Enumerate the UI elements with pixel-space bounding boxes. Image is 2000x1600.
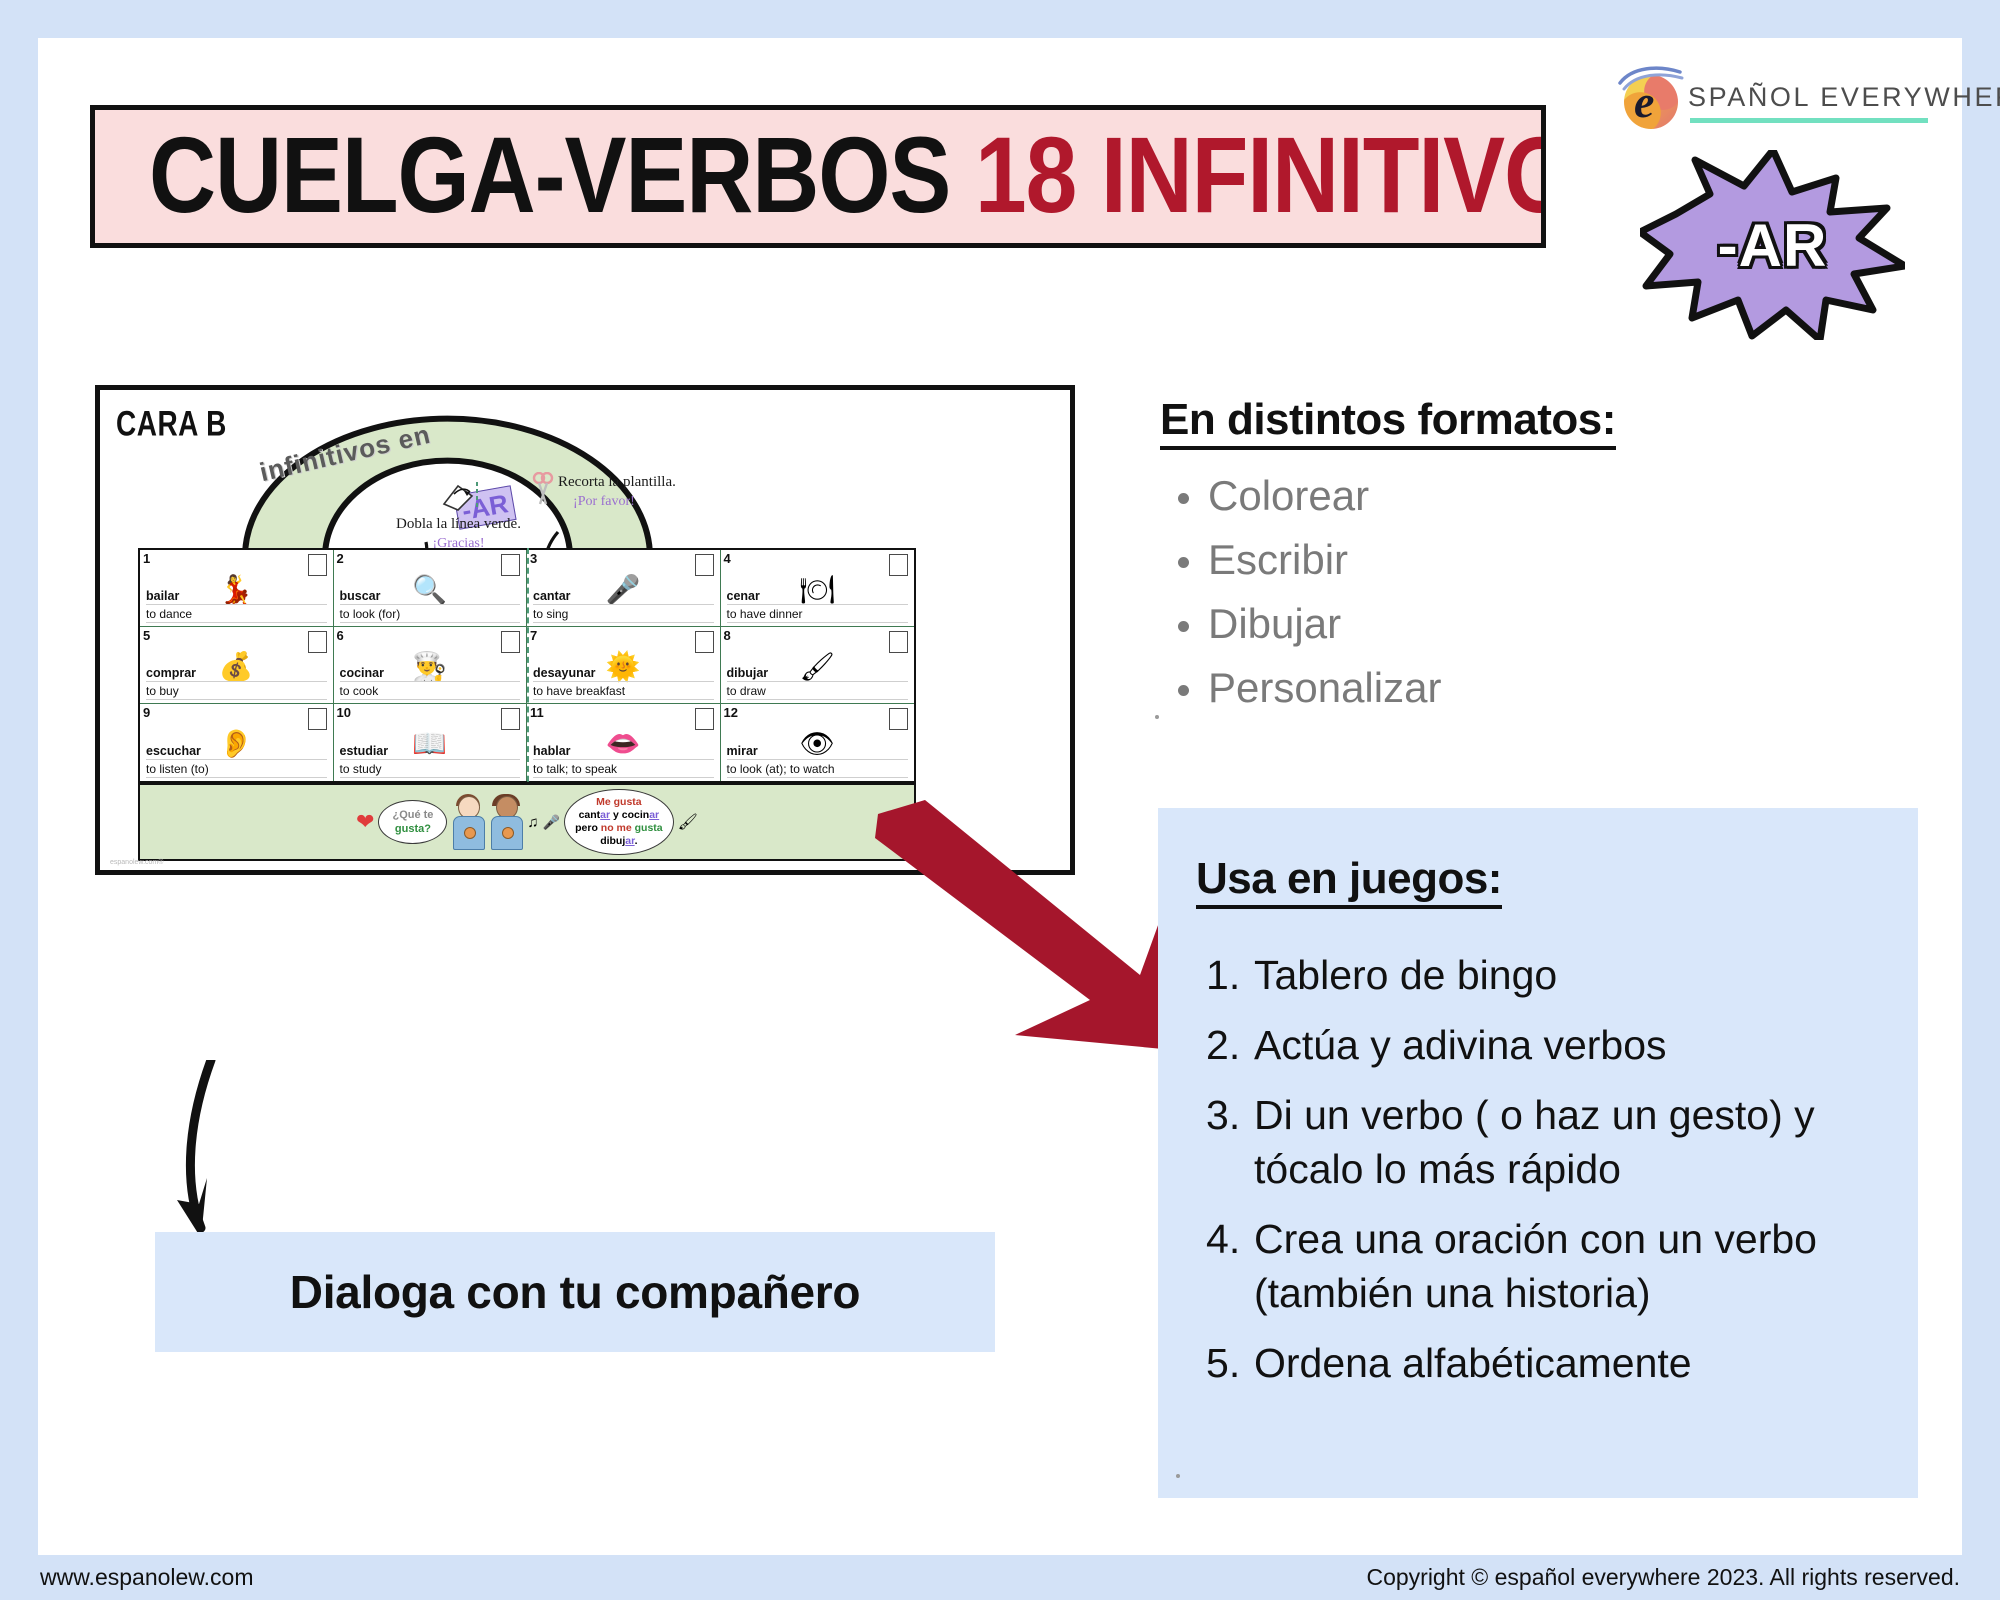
- card-number: 2: [337, 551, 344, 566]
- student-girl-avatar: [489, 796, 523, 848]
- formats-heading-colon: :: [1602, 395, 1616, 450]
- sheet-side-label: CARA B: [116, 404, 227, 444]
- card-number: 8: [724, 628, 731, 643]
- card-english: to dance: [146, 607, 327, 623]
- ar-starburst-badge: -AR: [1640, 150, 1905, 340]
- answer-line4-c: .: [635, 835, 638, 847]
- card-spanish: cocinar: [340, 666, 521, 682]
- card-number: 7: [530, 628, 537, 643]
- card-english: to cook: [340, 684, 521, 700]
- verb-card[interactable]: 9 👂 escuchar to listen (to): [140, 704, 334, 781]
- card-spanish: estudiar: [340, 744, 521, 760]
- verb-card[interactable]: 11 👄 hablar to talk; to speak: [527, 704, 721, 781]
- verb-card[interactable]: 5 💰 comprar to buy: [140, 627, 334, 704]
- card-number: 10: [337, 705, 351, 720]
- question-line2: gusta?: [395, 823, 431, 835]
- paintbrush-small-icon: 🖌: [678, 812, 698, 832]
- card-english: to study: [340, 762, 521, 778]
- verb-card[interactable]: 2 🔍 buscar to look (for): [334, 550, 528, 627]
- answer-line4-a: dibuj: [600, 835, 625, 847]
- worksheet-watermark: espanolew.com®: [110, 859, 163, 866]
- card-spanish: cantar: [533, 589, 714, 605]
- card-spanish: comprar: [146, 666, 327, 682]
- brand-underline: [1690, 118, 1928, 123]
- title-red-part: 18 INFINITIVOS: [975, 116, 1546, 236]
- verb-card[interactable]: 1 💃 bailar to dance: [140, 550, 334, 627]
- card-english: to look (at); to watch: [727, 762, 909, 778]
- footer: www.espanolew.com Copyright © español ev…: [0, 1555, 2000, 1600]
- answer-line3-b: no me: [601, 822, 635, 834]
- answer-line4-b: ar: [625, 835, 634, 847]
- poster-page: CUELGA-VERBOS 18 INFINITIVOS e SPAÑOL EV…: [0, 0, 2000, 1600]
- verb-card[interactable]: 7 🌞 desayunar to have breakfast: [527, 627, 721, 704]
- stray-dot-mark: [1155, 715, 1159, 719]
- dialogue-strip: ❤ ¿Qué te gusta? ♫ 🎤 Me gusta cant: [138, 783, 916, 861]
- footer-website[interactable]: www.espanolew.com: [40, 1564, 254, 1591]
- starburst-label: -AR: [1640, 150, 1905, 346]
- red-arrow-icon: [870, 800, 1200, 1065]
- card-english: to listen (to): [146, 762, 327, 778]
- fold-paper-icon: [438, 480, 478, 512]
- title-black-part: CUELGA-VERBOS: [149, 116, 975, 236]
- verb-card[interactable]: 3 🎤 cantar to sing: [527, 550, 721, 627]
- list-item: Dibujar: [1208, 592, 1860, 656]
- list-item: Di un verbo ( o haz un gesto) y tócalo l…: [1254, 1088, 1900, 1196]
- brand-name: SPAÑOL EVERYWHERE!®: [1688, 82, 2000, 113]
- brand-emblem-icon: e: [1620, 65, 1684, 129]
- card-number: 5: [143, 628, 150, 643]
- verb-card[interactable]: 8 🖌 dibujar to draw: [721, 627, 915, 704]
- list-item: Actúa y adivina verbos: [1254, 1018, 1900, 1072]
- list-item: Personalizar: [1208, 656, 1860, 720]
- card-number: 4: [724, 551, 731, 566]
- heart-icon: ❤: [356, 809, 374, 835]
- card-number: 9: [143, 705, 150, 720]
- list-item: Crea una oración con un verbo (también u…: [1254, 1212, 1900, 1320]
- card-number: 3: [530, 551, 537, 566]
- answer-line3-c: gusta: [635, 822, 663, 834]
- microphone-small-icon: 🎤: [543, 814, 560, 831]
- formats-heading: En distintos formatos: [1160, 395, 1602, 450]
- games-list: Tablero de bingo Actúa y adivina verbos …: [1204, 948, 1900, 1406]
- card-number: 12: [724, 705, 738, 720]
- card-spanish: cenar: [727, 589, 909, 605]
- brand-letter-e: e: [1634, 79, 1654, 125]
- answer-line2-b: ar: [600, 809, 610, 821]
- speech-bubble-question: ¿Qué te gusta?: [378, 800, 447, 844]
- card-number: 11: [530, 705, 544, 720]
- list-item: Tablero de bingo: [1254, 948, 1900, 1002]
- card-number: 1: [143, 551, 150, 566]
- card-spanish: desayunar: [533, 666, 714, 682]
- list-item: Colorear: [1208, 464, 1860, 528]
- dialoga-label: Dialoga con tu compañero: [290, 1265, 860, 1319]
- card-number: 6: [337, 628, 344, 643]
- poster-title: CUELGA-VERBOS 18 INFINITIVOS: [149, 115, 1546, 239]
- verb-card[interactable]: 6 👨‍🍳 cocinar to cook: [334, 627, 528, 704]
- music-note-icon: ♫: [527, 814, 538, 831]
- verb-card[interactable]: 12 👁 mirar to look (at); to watch: [721, 704, 915, 781]
- answer-line2-d: ar: [649, 809, 659, 821]
- cut-instruction: Recorta la plantilla. ¡Por favor!: [532, 472, 650, 512]
- card-spanish: mirar: [727, 744, 909, 760]
- scissors-icon: [532, 472, 554, 506]
- answer-line2-a: cant: [579, 809, 601, 821]
- verb-card[interactable]: 10 📖 estudiar to study: [334, 704, 528, 781]
- footer-copyright: Copyright © español everywhere 2023. All…: [1366, 1564, 1960, 1591]
- answer-line3-a: pero: [575, 822, 601, 834]
- games-panel: Usa en juegos: Tablero de bingo Actúa y …: [1158, 808, 1918, 1498]
- games-heading: Usa en juegos:: [1196, 854, 1502, 909]
- card-english: to have dinner: [727, 607, 909, 623]
- formats-list: Colorear Escribir Dibujar Personalizar: [1160, 464, 1860, 720]
- card-spanish: hablar: [533, 744, 714, 760]
- card-spanish: bailar: [146, 589, 327, 605]
- list-item: Ordena alfabéticamente: [1254, 1336, 1900, 1390]
- brand-name-text: SPAÑOL EVERYWHERE!: [1688, 82, 2000, 112]
- card-english: to talk; to speak: [533, 762, 714, 778]
- stray-dot-mark: [1176, 1474, 1180, 1478]
- card-english: to draw: [727, 684, 909, 700]
- list-item: Escribir: [1208, 528, 1860, 592]
- card-english: to sing: [533, 607, 714, 623]
- dialoga-panel: Dialoga con tu compañero: [155, 1232, 995, 1352]
- brand-logo: e SPAÑOL EVERYWHERE!®: [1620, 62, 1970, 132]
- formats-section: En distintos formatos: Colorear Escribir…: [1160, 395, 1860, 720]
- card-english: to have breakfast: [533, 684, 714, 700]
- card-spanish: escuchar: [146, 744, 327, 760]
- answer-line2-c: y cocin: [610, 809, 649, 821]
- card-spanish: dibujar: [727, 666, 909, 682]
- card-english: to look (for): [340, 607, 521, 623]
- formats-heading-wrap: En distintos formatos:: [1160, 395, 1860, 450]
- title-banner: CUELGA-VERBOS 18 INFINITIVOS: [90, 105, 1546, 248]
- card-spanish: buscar: [340, 589, 521, 605]
- fold-note-line1: Dobla la línea verde.: [396, 514, 521, 534]
- student-boy-avatar: [451, 796, 485, 848]
- answer-line1: Me gusta: [596, 796, 642, 808]
- card-english: to buy: [146, 684, 327, 700]
- verb-card[interactable]: 4 🍽 cenar to have dinner: [721, 550, 915, 627]
- question-line1: ¿Qué te: [392, 809, 433, 821]
- speech-bubble-answer: Me gusta cantar y cocinar pero no me gus…: [564, 789, 674, 855]
